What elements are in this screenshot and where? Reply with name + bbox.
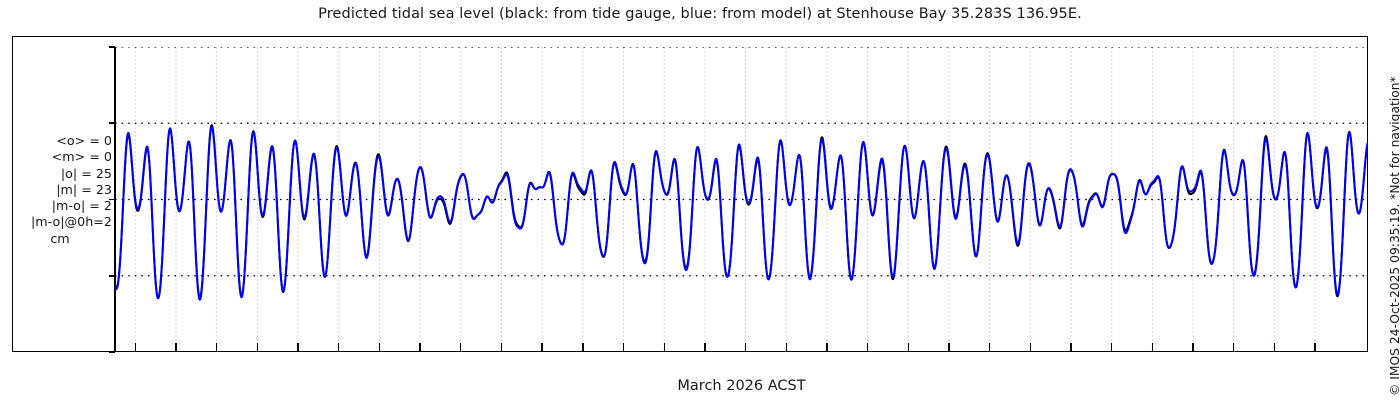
copyright-text: © IMOS 24-Oct-2025 09:35:19. *Not for na… [1388,76,1400,396]
statistics-block: <o> = 0<m> = 0|o| = 25|m| = 23|m-o| = 2|… [8,133,112,231]
statistics-unit-label: cm [8,231,112,247]
x-axis-tick-mark [419,343,420,352]
x-axis-title: March 2026 ACST [115,378,1368,394]
x-axis-tick-mark [948,343,949,352]
statistics-line: |m| = 23 [8,182,112,198]
x-axis-tick-mark [989,343,990,352]
x-axis-tick-mark [135,343,136,352]
chart-canvas [115,47,1368,352]
x-axis-tick-mark [379,343,380,352]
horizontal-gridlines [115,47,1368,352]
statistics-line: <o> = 0 [8,133,112,149]
series-model [115,127,1368,300]
x-axis-tick-mark [1070,343,1071,352]
x-axis-tick-mark [1314,343,1315,352]
x-axis-tick-mark [460,343,461,352]
copyright-notice: © IMOS 24-Oct-2025 09:35:19. *Not for na… [1374,0,1394,400]
x-axis-tick-mark [1274,343,1275,352]
tidal-sea-level-plot [115,47,1368,352]
x-axis-tick-mark [297,343,298,352]
x-axis-tick-mark [704,343,705,352]
x-axis-tick-mark [908,343,909,352]
x-axis-tick-mark [582,343,583,352]
x-axis-tick-mark [1111,343,1112,352]
x-axis-tick-mark [501,343,502,352]
x-axis-tick-mark [1192,343,1193,352]
x-axis-tick-mark [541,343,542,352]
x-axis-tick-mark [1233,343,1234,352]
x-axis-tick-mark [745,343,746,352]
statistics-line: |m-o|@0h=2 [8,214,112,230]
x-axis-tick-mark [175,343,176,352]
x-axis-tick-mark [1030,343,1031,352]
statistics-line: |o| = 25 [8,166,112,182]
x-axis-tick-mark [664,343,665,352]
statistics-line: <m> = 0 [8,149,112,165]
x-axis-tick-mark [338,343,339,352]
x-axis-tick-mark [257,343,258,352]
x-axis-tick-mark [826,343,827,352]
x-axis-tick-mark [1152,343,1153,352]
statistics-line: |m-o| = 2 [8,198,112,214]
x-axis-tick-mark [623,343,624,352]
page-title: Predicted tidal sea level (black: from t… [0,6,1400,22]
x-axis-tick-mark [786,343,787,352]
x-axis-tick-mark [216,343,217,352]
x-axis-tick-mark [867,343,868,352]
